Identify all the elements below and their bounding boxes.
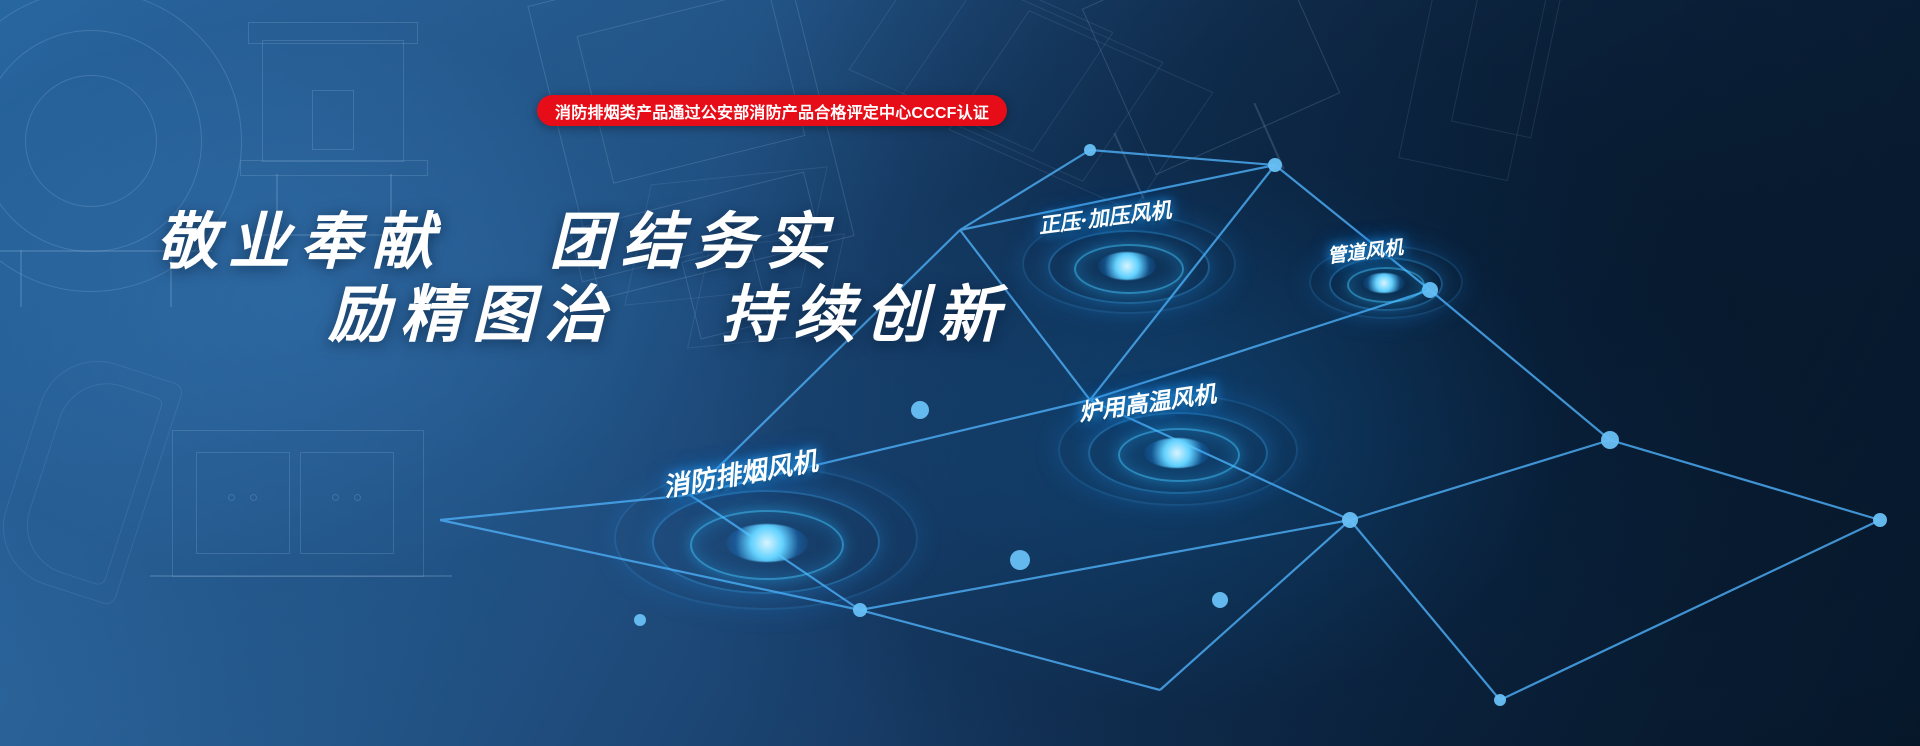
hotspot-core-glow: [726, 524, 808, 562]
product-hotspot-high-temp[interactable]: 炉用高温风机: [1040, 370, 1320, 520]
slogan-block: 敬业奉献 团结务实 励精图治 持续创新: [150, 205, 910, 351]
certification-badge: 消防排烟类产品通过公安部消防产品合格评定中心CCCF认证: [537, 95, 1007, 126]
slogan-line-1: 敬业奉献 团结务实: [150, 205, 910, 278]
slogan-line-1-part-b: 团结务实: [549, 205, 837, 278]
product-hotspot-duct-fan[interactable]: 管道风机: [1295, 225, 1475, 335]
slogan-line-2-part-b: 持续创新: [721, 278, 1009, 351]
slogan-line-2: 励精图治 持续创新: [150, 278, 910, 351]
slogan-line-1-part-a: 敬业奉献: [156, 205, 444, 278]
certification-badge-text: 消防排烟类产品通过公安部消防产品合格评定中心CCCF认证: [555, 99, 989, 123]
hotspot-core-glow: [1144, 438, 1210, 468]
hero-banner: 消防排烟类产品通过公安部消防产品合格评定中心CCCF认证 敬业奉献 团结务实 励…: [0, 0, 1920, 746]
product-hotspot-smoke-exhaust[interactable]: 消防排烟风机: [600, 440, 940, 630]
hotspot-core-glow: [1363, 273, 1405, 293]
hotspot-core-glow: [1098, 252, 1156, 280]
slogan-line-2-part-a: 励精图治: [328, 278, 616, 351]
product-hotspot-pressurization[interactable]: 正压·加压风机: [1000, 190, 1260, 330]
